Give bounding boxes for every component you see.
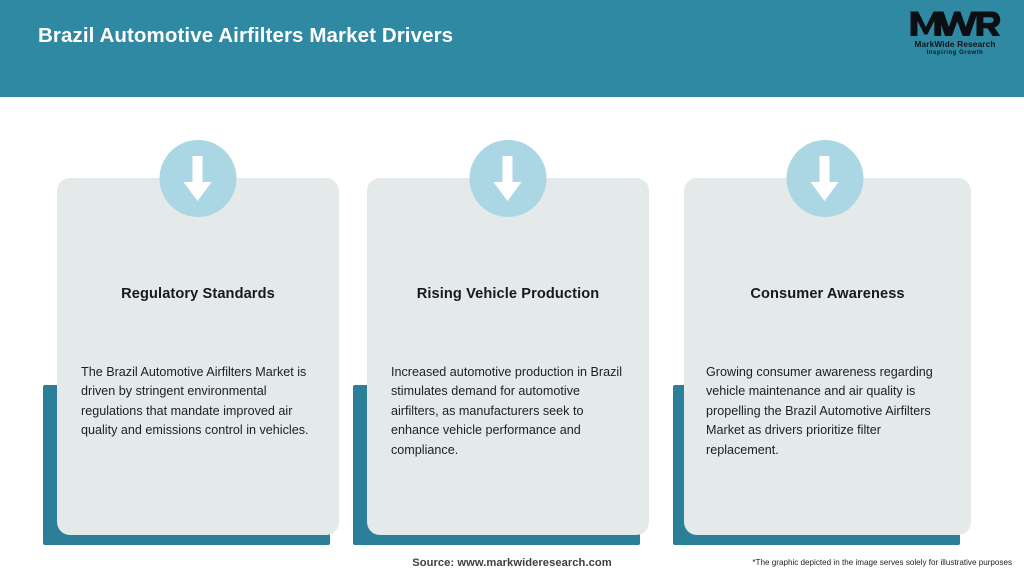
arrow-down-icon	[786, 140, 863, 217]
card-face: Consumer Awareness Growing consumer awar…	[684, 178, 971, 535]
arrow-down-glyph	[491, 154, 525, 204]
card-title: Regulatory Standards	[57, 286, 339, 302]
card-title: Rising Vehicle Production	[367, 286, 649, 302]
arrow-down-glyph	[181, 154, 215, 204]
card-body-text: Growing consumer awareness regarding veh…	[684, 363, 971, 460]
arrow-down-icon	[469, 140, 546, 217]
disclaimer-note: *The graphic depicted in the image serve…	[752, 558, 1012, 567]
arrow-down-glyph	[808, 154, 842, 204]
card-body-text: The Brazil Automotive Airfilters Market …	[57, 363, 339, 441]
market-drivers-card-group: Regulatory Standards The Brazil Automoti…	[0, 0, 1024, 576]
card-face: Rising Vehicle Production Increased auto…	[367, 178, 649, 535]
card-face: Regulatory Standards The Brazil Automoti…	[57, 178, 339, 535]
card-body-text: Increased automotive production in Brazi…	[367, 363, 649, 460]
arrow-down-icon	[159, 140, 236, 217]
card-title: Consumer Awareness	[684, 286, 971, 302]
